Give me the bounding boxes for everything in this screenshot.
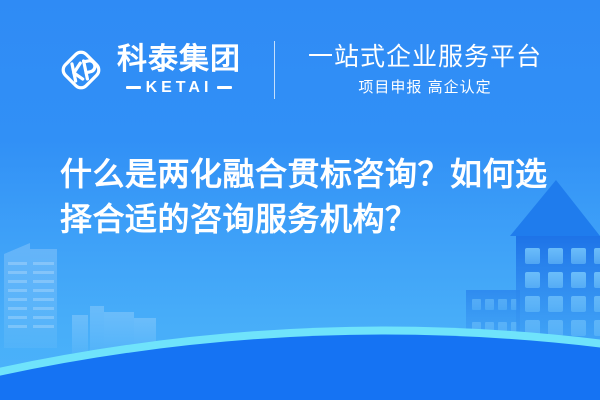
tagline-sub: 项目申报 高企认定	[308, 79, 542, 97]
logo-company-en-row: KETAI	[126, 80, 233, 96]
page-title: 什么是两化融合贯标咨询？如何选 择合适的咨询服务机构？	[60, 152, 560, 243]
logo-company-cn: 科泰集团	[117, 45, 241, 75]
brand-tagline: 一站式企业服务平台 项目申报 高企认定	[308, 43, 542, 97]
logo-dash-right-icon	[217, 86, 232, 89]
vertical-divider-icon	[274, 41, 275, 99]
tall-tower-icon	[4, 243, 57, 348]
page-title-line-1: 什么是两化融合贯标咨询？如何选	[60, 152, 560, 197]
brand-logo[interactable]: 科泰集团 KETAI 一站式企业服务平台 项目申报 高企认定	[58, 41, 542, 99]
page-title-line-2: 择合适的咨询服务机构？	[60, 197, 560, 242]
logo-dash-left-icon	[126, 86, 141, 89]
tagline-main: 一站式企业服务平台	[308, 43, 542, 72]
logo-company-en: KETAI	[146, 80, 213, 96]
promo-banner: 科泰集团 KETAI 一站式企业服务平台 项目申报 高企认定 什么是两化融合贯标…	[0, 0, 600, 400]
logo-wordmark: 科泰集团 KETAI	[117, 45, 241, 96]
banner-header: 科泰集团 KETAI 一站式企业服务平台 项目申报 高企认定	[0, 0, 600, 140]
ketai-diamond-kp-logo-icon	[58, 47, 104, 93]
